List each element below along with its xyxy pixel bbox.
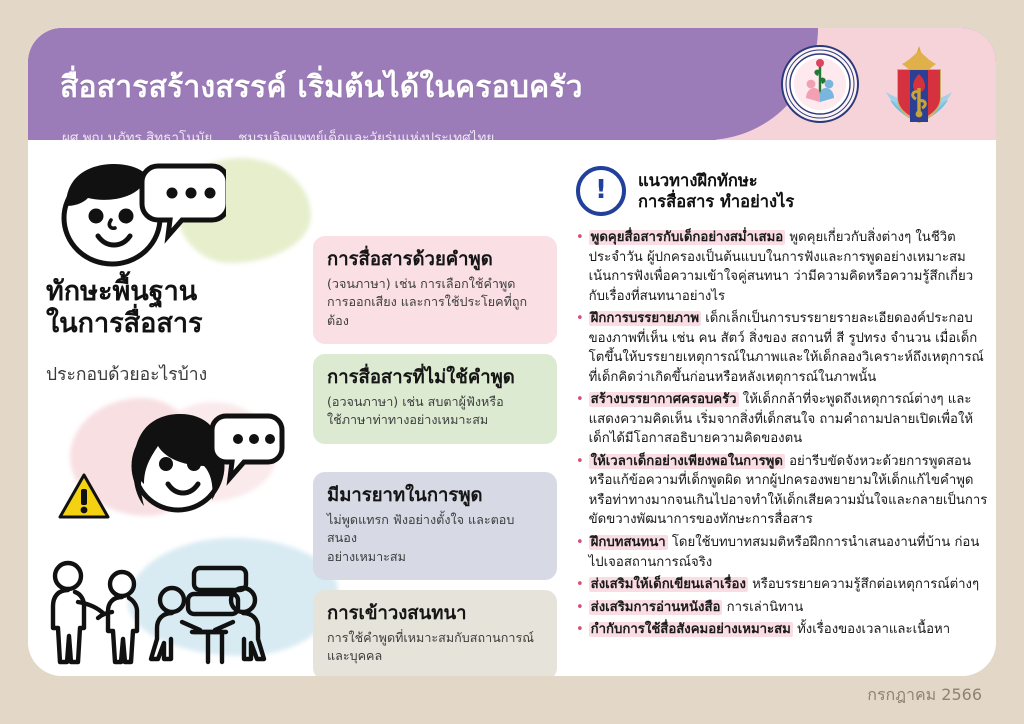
card-joining-conversation[interactable]: การเข้าวงสนทนา การใช้คำพูดที่เหมาะสมกับส… <box>313 590 557 676</box>
bullet-text: กำกับการใช้สื่อสังคมอย่างเหมาะสม ทั้งเรื… <box>589 620 988 640</box>
list-item: • ฝึกบทสนทนา โดยใช้บทบาทสมมติหรือฝึกการน… <box>576 533 988 572</box>
guide-heading: ! แนวทางฝึกทักษะ การสื่อสาร ทำอย่างไร <box>576 166 794 216</box>
bullet-lead: ส่งเสริมให้เด็กเขียนเล่าเรื่อง <box>589 577 748 592</box>
author-name: ผศ.พญ.นภัทร สิทธาโนมัย <box>62 126 212 140</box>
card-description-line-2: การออกเสียง และการใช้ประโยคที่ถูกต้อง <box>327 293 543 330</box>
bullet-dot-icon: • <box>576 309 584 387</box>
bullet-lead: กำกับการใช้สื่อสังคมอย่างเหมาะสม <box>589 622 793 637</box>
card-speaking-manners[interactable]: มีมารยาทในการพูด ไม่พูดแทรก ฟังอย่างตั้ง… <box>313 472 557 580</box>
list-item: • ฝึกการบรรยายภาพ เด็กเล็กเป็นการบรรยายร… <box>576 309 988 387</box>
left-heading: ทักษะพื้นฐาน ในการสื่อสาร <box>46 276 296 340</box>
card-nonverbal-communication[interactable]: การสื่อสารที่ไม่ใช้คำพูด (อวจนภาษา) เช่น… <box>313 354 557 444</box>
bullet-rest: การเล่านิทาน <box>722 600 803 615</box>
bullet-dot-icon: • <box>576 533 584 572</box>
bullet-lead: ให้เวลาเด็กอย่างเพียงพอในการพูด <box>589 454 785 469</box>
bullet-text: สร้างบรรยากาศครอบครัว ให้เด็กกล้าที่จะพู… <box>589 390 988 449</box>
logo-group <box>780 38 970 134</box>
card-description: ไม่พูดแทรก ฟังอย่างตั้งใจ และตอบสนอง อย่… <box>327 511 543 566</box>
card-description-line-1: การใช้คำพูดที่เหมาะสมกับสถานการณ์ <box>327 629 543 647</box>
body-area: ทักษะพื้นฐาน ในการสื่อสาร ประกอบด้วยอะไร… <box>28 140 996 676</box>
people-conversation-group-icon <box>42 560 276 672</box>
left-column: ทักษะพื้นฐาน ในการสื่อสาร ประกอบด้วยอะไร… <box>28 140 288 676</box>
card-title: การเข้าวงสนทนา <box>327 602 543 625</box>
page-title: สื่อสารสร้างสรรค์ เริ่มต้นได้ในครอบครัว <box>60 64 583 111</box>
bullet-text: ส่งเสริมการอ่านหนังสือ การเล่านิทาน <box>589 598 988 618</box>
guide-bullet-list: • พูดคุยสื่อสารกับเด็กอย่างสม่ำเสมอ พูดค… <box>576 228 988 643</box>
royal-thai-medical-emblem-logo <box>876 44 962 136</box>
bullet-dot-icon: • <box>576 390 584 449</box>
exclamation-circle-icon: ! <box>576 166 626 216</box>
bullet-lead: พูดคุยสื่อสารกับเด็กอย่างสม่ำเสมอ <box>589 230 786 245</box>
left-subheading: ประกอบด้วยอะไรบ้าง <box>46 360 296 388</box>
bullet-rest: ทั้งเรื่องของเวลาและเนื้อหา <box>793 622 950 637</box>
list-item: • ส่งเสริมการอ่านหนังสือ การเล่านิทาน <box>576 598 988 618</box>
card-title: การสื่อสารด้วยคำพูด <box>327 248 543 271</box>
left-heading-line-2: ในการสื่อสาร <box>46 308 296 340</box>
card-description: (อวจนภาษา) เช่น สบตาผู้ฟังหรือ ใช้ภาษาท่… <box>327 393 543 430</box>
bullet-lead: ฝึกบทสนทนา <box>589 535 668 550</box>
guide-heading-line-2: การสื่อสาร ทำอย่างไร <box>638 191 794 212</box>
bullet-lead: สร้างบรรยากาศครอบครัว <box>589 392 739 407</box>
footer-date: กรกฎาคม 2566 <box>867 683 982 708</box>
card-description: (วจนภาษา) เช่น การเลือกใช้คำพูด การออกเส… <box>327 275 543 330</box>
card-description-line-2: อย่างเหมาะสม <box>327 548 543 566</box>
bullet-dot-icon: • <box>576 620 584 640</box>
card-title: มีมารยาทในการพูด <box>327 484 543 507</box>
inner-card: สื่อสารสร้างสรรค์ เริ่มต้นได้ในครอบครัว … <box>28 28 996 676</box>
bullet-dot-icon: • <box>576 575 584 595</box>
bullet-text: ฝึกบทสนทนา โดยใช้บทบาทสมมติหรือฝึกการนำเ… <box>589 533 988 572</box>
header-band: สื่อสารสร้างสรรค์ เริ่มต้นได้ในครอบครัว … <box>28 28 996 140</box>
poster-root: สื่อสารสร้างสรรค์ เริ่มต้นได้ในครอบครัว … <box>0 0 1024 724</box>
card-description-line-1: (วจนภาษา) เช่น การเลือกใช้คำพูด <box>327 275 543 293</box>
bullet-dot-icon: • <box>576 452 584 530</box>
card-description-line-1: (อวจนภาษา) เช่น สบตาผู้ฟังหรือ <box>327 393 543 411</box>
bullet-dot-icon: • <box>576 228 584 306</box>
bullet-text: ส่งเสริมให้เด็กเขียนเล่าเรื่อง หรือบรรยา… <box>589 575 988 595</box>
paediatric-society-of-thailand-logo <box>780 44 860 124</box>
bullet-lead: ส่งเสริมการอ่านหนังสือ <box>589 600 723 615</box>
list-item: • ส่งเสริมให้เด็กเขียนเล่าเรื่อง หรือบรร… <box>576 575 988 595</box>
list-item: • พูดคุยสื่อสารกับเด็กอย่างสม่ำเสมอ พูดค… <box>576 228 988 306</box>
byline: ผศ.พญ.นภัทร สิทธาโนมัย ชมรมจิตแพทย์เด็กแ… <box>62 126 494 140</box>
bullet-dot-icon: • <box>576 598 584 618</box>
bullet-text: ให้เวลาเด็กอย่างเพียงพอในการพูด อย่ารีบข… <box>589 452 988 530</box>
boy-face-speech-bubble-icon <box>50 154 226 274</box>
bullet-text: ฝึกการบรรยายภาพ เด็กเล็กเป็นการบรรยายราย… <box>589 309 988 387</box>
list-item: • ให้เวลาเด็กอย่างเพียงพอในการพูด อย่ารี… <box>576 452 988 530</box>
bullet-lead: ฝึกการบรรยายภาพ <box>589 311 701 326</box>
card-title: การสื่อสารที่ไม่ใช้คำพูด <box>327 366 543 389</box>
list-item: • กำกับการใช้สื่อสังคมอย่างเหมาะสม ทั้งเ… <box>576 620 988 640</box>
card-description-line-2: และบุคคล <box>327 647 543 665</box>
girl-face-speech-bubble-icon <box>126 406 286 518</box>
card-description-line-1: ไม่พูดแทรก ฟังอย่างตั้งใจ และตอบสนอง <box>327 511 543 548</box>
left-heading-line-1: ทักษะพื้นฐาน <box>46 276 197 307</box>
organization-name: ชมรมจิตแพทย์เด็กและวัยรุ่นแห่งประเทศไทย <box>238 126 494 140</box>
warning-triangle-icon <box>58 472 110 520</box>
card-description-line-2: ใช้ภาษาท่าทางอย่างเหมาะสม <box>327 411 543 429</box>
card-description: การใช้คำพูดที่เหมาะสมกับสถานการณ์ และบุค… <box>327 629 543 666</box>
card-verbal-communication[interactable]: การสื่อสารด้วยคำพูด (วจนภาษา) เช่น การเล… <box>313 236 557 344</box>
guide-heading-text: แนวทางฝึกทักษะ การสื่อสาร ทำอย่างไร <box>638 170 794 213</box>
bullet-rest: หรือบรรยายความรู้สึกต่อเหตุการณ์ต่างๆ <box>748 577 979 592</box>
guide-heading-line-1: แนวทางฝึกทักษะ <box>638 170 794 191</box>
bullet-text: พูดคุยสื่อสารกับเด็กอย่างสม่ำเสมอ พูดคุย… <box>589 228 988 306</box>
list-item: • สร้างบรรยากาศครอบครัว ให้เด็กกล้าที่จะ… <box>576 390 988 449</box>
